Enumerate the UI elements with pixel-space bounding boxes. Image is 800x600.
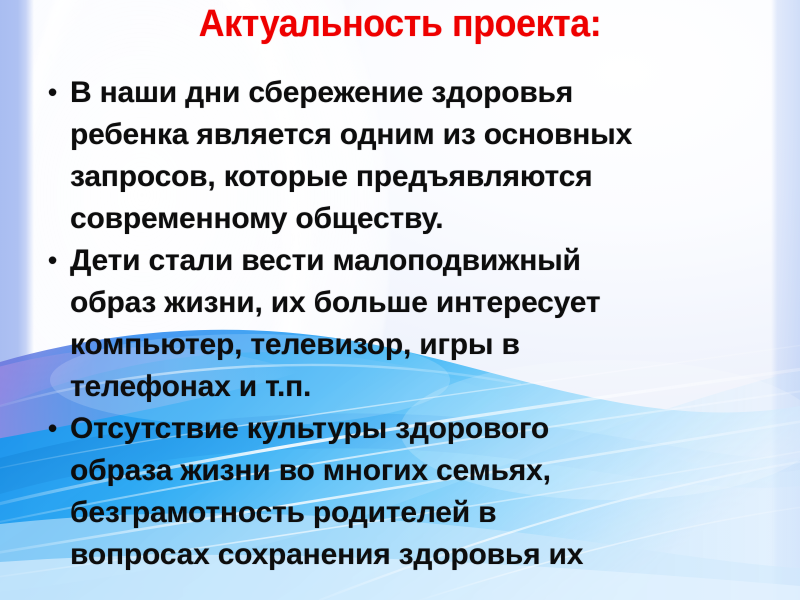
bullet-item: В наши дни сбережение здоровья ребенка я… [44,72,772,240]
bullet-line: вопросах сохранения здоровья их [70,534,772,576]
bullet-item: Дети стали вести малоподвижный образ жиз… [44,240,772,408]
bullet-line: современному обществу. [70,198,772,240]
bullet-line: образ жизни, их больше интересует [70,282,772,324]
bullet-line: безграмотность родителей в [70,492,772,534]
slide-title: Актуальность проекта: [24,2,776,46]
bullet-line: образа жизни во многих семьях, [70,450,772,492]
presentation-slide: Актуальность проекта: В наши дни сбереже… [0,0,800,600]
bullet-line: ребенка является одним из основных [70,114,772,156]
bullet-line: компьютер, телевизор, игры в [70,324,772,366]
bullet-line: В наши дни сбережение здоровья [70,72,772,114]
bullet-line: телефонах и т.п. [70,366,772,408]
slide-body: В наши дни сбережение здоровья ребенка я… [44,72,772,576]
bullet-line: запросов, которые предъявляются [70,156,772,198]
bullet-line: Отсутствие культуры здорового [70,408,772,450]
bullet-line: Дети стали вести малоподвижный [70,240,772,282]
bullet-item: Отсутствие культуры здорового образа жиз… [44,408,772,576]
